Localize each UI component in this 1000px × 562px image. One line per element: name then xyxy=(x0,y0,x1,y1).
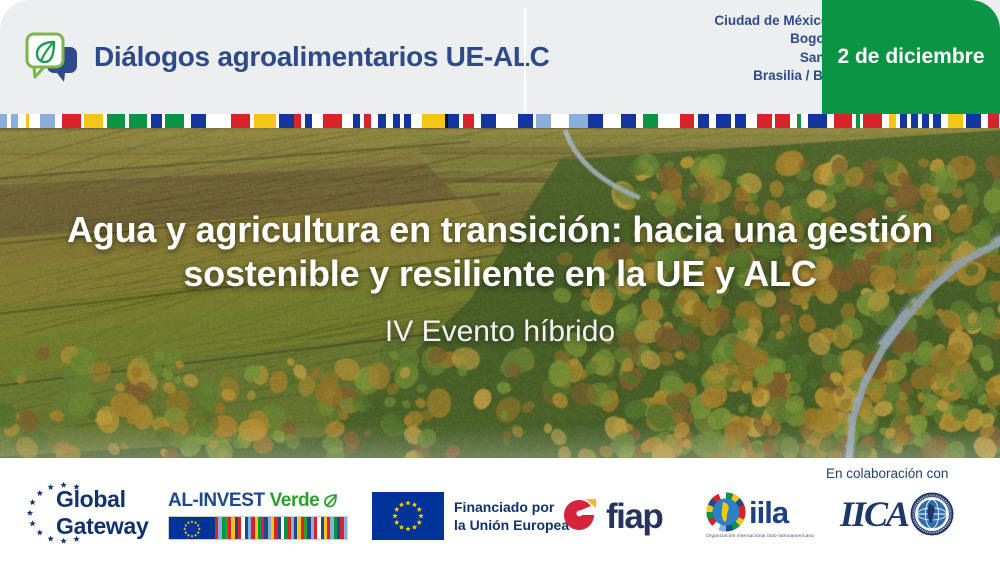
iila-wordmark: iila xyxy=(749,497,788,528)
fiap-mark-icon xyxy=(560,496,600,536)
eu-funding-line1: Financiado por xyxy=(454,498,569,516)
iila-tagline: Organización internacional ítalo-latinoa… xyxy=(706,533,822,539)
event-subtitle: IV Evento híbrido xyxy=(40,312,960,352)
global-gateway-line2: Gateway xyxy=(56,513,149,540)
event-title: Agua y agricultura en transición: hacia … xyxy=(40,208,960,296)
al-invest-part1: AL-INVEST xyxy=(168,490,265,511)
global-gateway-wordmark: Global Gateway xyxy=(56,486,149,540)
flag-color-strip xyxy=(0,114,1000,128)
eu-funding-line2: la Unión Europea xyxy=(454,516,569,534)
logo-iica: IICA xyxy=(840,492,954,536)
hero-image: Agua y agricultura en transición: hacia … xyxy=(0,120,1000,458)
date-badge: 2 de diciembre xyxy=(822,0,1000,114)
iica-seal-icon xyxy=(910,492,954,536)
iica-wordmark: IICA xyxy=(840,496,908,532)
logo-global-gateway: Global Gateway xyxy=(18,482,158,544)
logo-iila: iila Organización internacional ítalo-la… xyxy=(706,492,822,539)
header-bar: Diálogos agroalimentarios UE-ALC Ciudad … xyxy=(0,0,1000,114)
leaf-speech-bubble-icon xyxy=(24,31,80,83)
date-badge-label: 2 de diciembre xyxy=(837,45,984,69)
global-gateway-line1: Global xyxy=(56,486,149,513)
hero-text-block: Agua y agricultura en transición: hacia … xyxy=(0,208,1000,352)
page-title: Diálogos agroalimentarios UE-ALC xyxy=(94,41,550,73)
partner-color-bar xyxy=(168,516,348,540)
leaf-icon xyxy=(324,493,338,508)
collaboration-label: En colaboración con xyxy=(826,466,948,481)
eu-flag-icon xyxy=(372,492,444,540)
al-invest-wordmark: AL-INVEST Verde xyxy=(168,490,348,512)
iila-row: iila xyxy=(706,492,822,532)
globe-flags-icon xyxy=(706,492,746,532)
logo-fiap: fiap xyxy=(560,492,662,540)
al-invest-part2: Verde xyxy=(270,490,320,511)
logo-financiado-union-europea: Financiado por la Unión Europea xyxy=(372,492,569,540)
eu-flag-icon xyxy=(169,517,215,539)
logo-al-invest-verde: AL-INVEST Verde xyxy=(168,490,348,538)
eu-funding-text: Financiado por la Unión Europea xyxy=(454,498,569,534)
fiap-wordmark: fiap xyxy=(606,499,662,534)
brand-block: Diálogos agroalimentarios UE-ALC xyxy=(0,0,524,114)
event-banner: Diálogos agroalimentarios UE-ALC Ciudad … xyxy=(0,0,1000,562)
